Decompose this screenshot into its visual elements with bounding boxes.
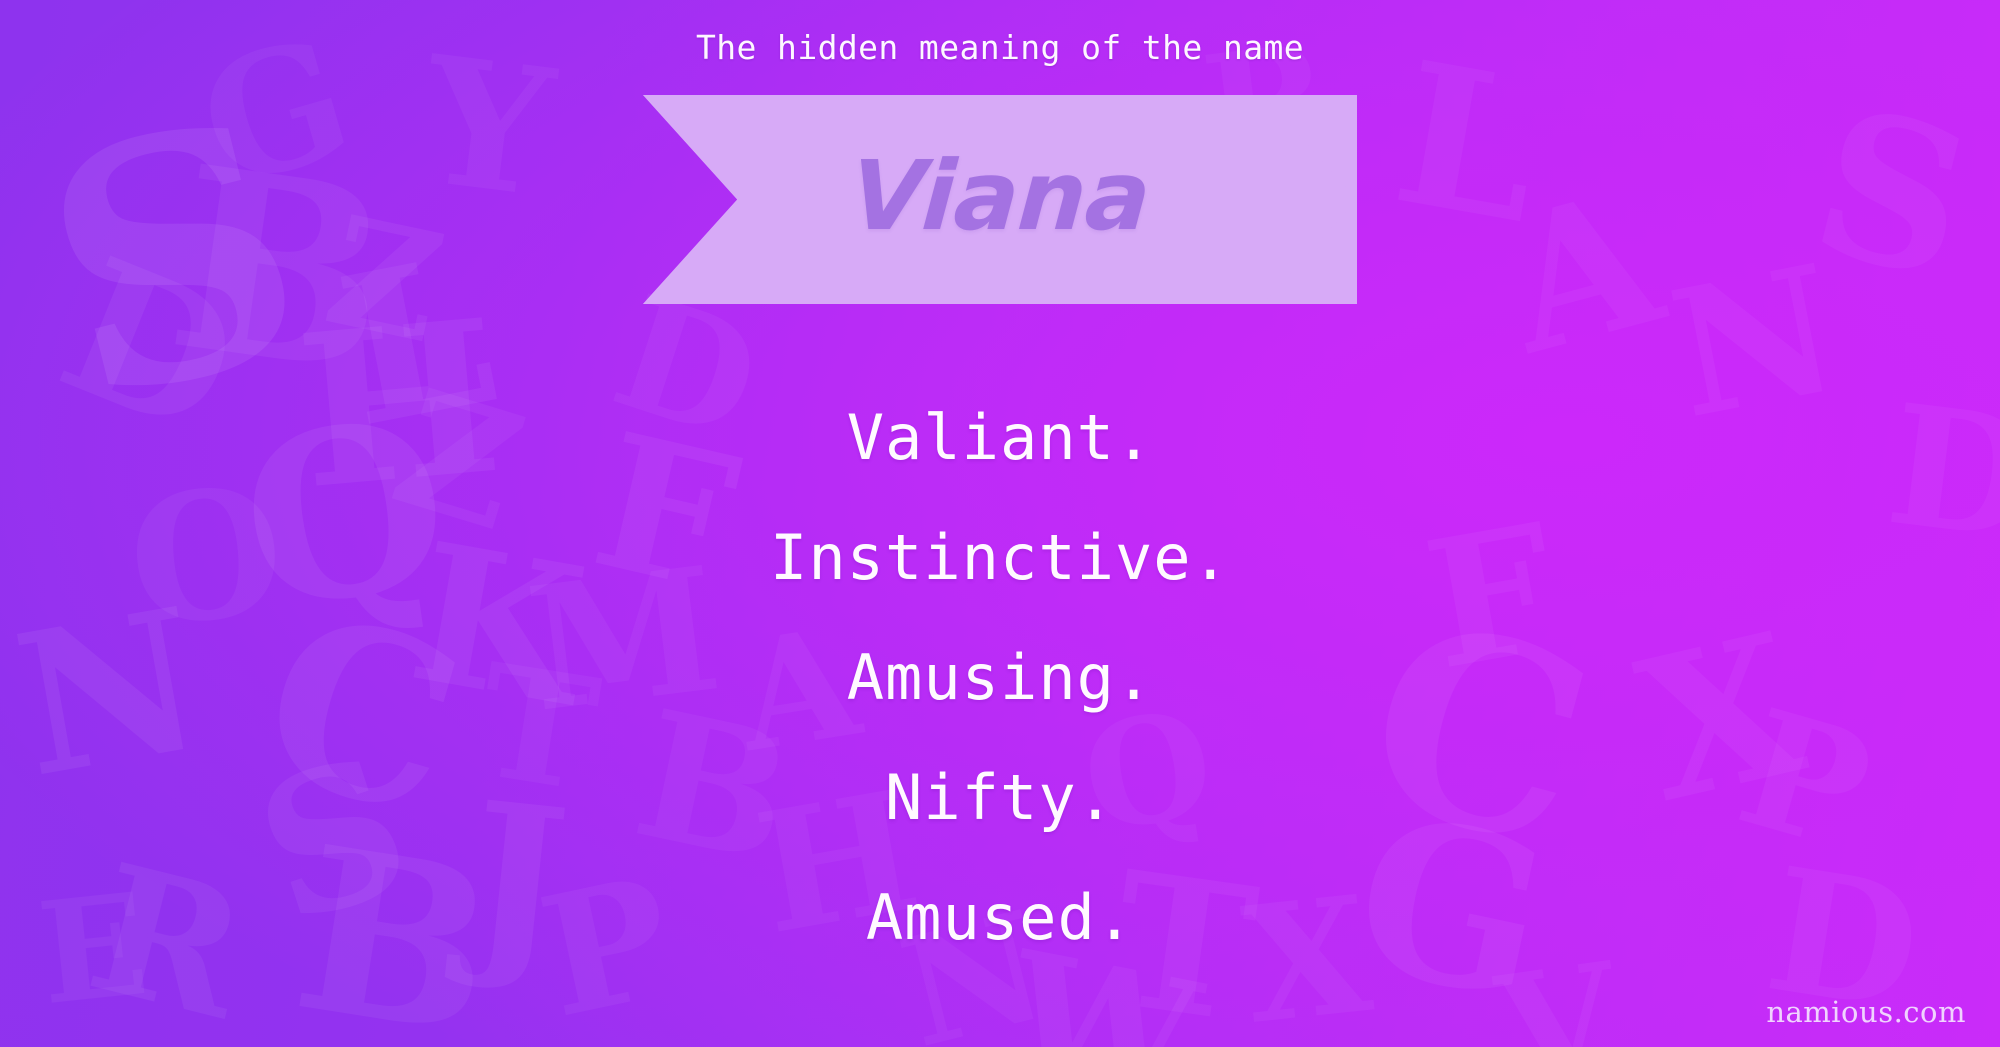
meaning-line: Instinctive. <box>0 498 2000 618</box>
decorative-letter: A <box>1489 165 1676 381</box>
meaning-line: Amusing. <box>0 618 2000 738</box>
meanings-list: Valiant.Instinctive.Amusing.Nifty.Amused… <box>0 378 2000 978</box>
meaning-line: Valiant. <box>0 378 2000 498</box>
decorative-letter: B <box>159 132 403 409</box>
decorative-letter: Z <box>316 195 454 364</box>
ribbon-content: Viana <box>643 95 1357 304</box>
name-ribbon-banner: Viana <box>643 95 1357 304</box>
name-text: Viana <box>847 148 1152 244</box>
meaning-line: Nifty. <box>0 738 2000 858</box>
decorative-letter: S <box>1798 80 1987 309</box>
site-watermark: namious.com <box>1766 995 1966 1029</box>
page-title: The hidden meaning of the name <box>0 28 2000 67</box>
meaning-line: Amused. <box>0 858 2000 978</box>
name-meaning-card: SZQDHCBNREBSJPKMFLYGDAWNTXCFGXDVSNDALRPQ… <box>0 0 2000 1047</box>
